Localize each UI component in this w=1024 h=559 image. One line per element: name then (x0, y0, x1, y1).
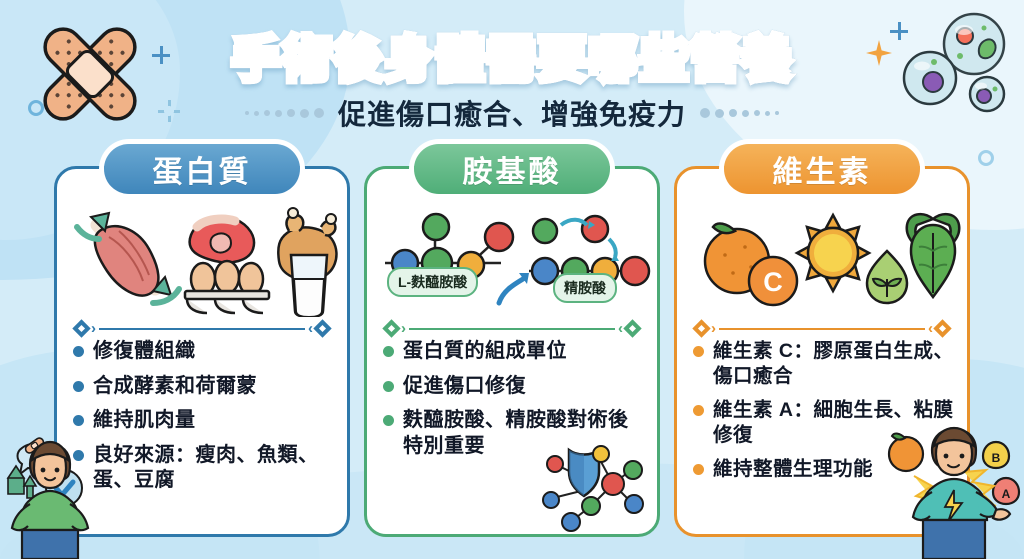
card-protein-heading: 蛋白質 (104, 144, 300, 194)
bullet-text: 合成酵素和荷爾蒙 (93, 374, 257, 400)
bullet-text: 維持整體生理功能 (713, 457, 873, 482)
card-protein[interactable]: 蛋白質 (54, 166, 350, 537)
bullet-text: 促進傷口修復 (403, 374, 526, 400)
card-vitamins-artwork: C (677, 205, 967, 317)
bullet-text: 蛋白質的組成單位 (403, 339, 567, 365)
card-vitamins-heading: 維生素 (724, 144, 920, 194)
card-protein-artwork (57, 205, 347, 317)
bullet-text: 維持肌肉量 (93, 408, 196, 434)
cards-container: 蛋白質 (0, 166, 1024, 546)
subtitle-row: 促進傷口癒合、增強免疫力 (0, 93, 1024, 133)
circle-outline-icon (978, 150, 994, 166)
label-arginine: 精胺酸 (553, 273, 617, 303)
page-subtitle: 促進傷口癒合、增強免疫力 (338, 93, 686, 133)
bullet-dot-icon (73, 415, 84, 426)
bullet-text: 維生素 A：細胞生長、粘膜修復 (713, 398, 957, 448)
bullet-text: 修復體組織 (93, 339, 196, 365)
bullet-dot-icon (693, 464, 704, 475)
bullet-item: 蛋白質的組成單位 (383, 339, 647, 365)
card-amino-acids-heading: 胺基酸 (414, 144, 610, 194)
card-vitamins-divider: › ‹ (695, 321, 949, 336)
bullet-dot-icon (73, 346, 84, 357)
card-amino-acids-artwork (367, 205, 657, 317)
card-protein-bullets: 修復體組織 合成酵素和荷爾蒙 維持肌肉量 良好來源：瘦肉、魚類、蛋、豆腐 (73, 339, 337, 503)
card-amino-acids-divider: › ‹ (385, 321, 639, 336)
card-protein-divider: › ‹ (75, 321, 329, 336)
bullet-dot-icon (383, 415, 394, 426)
bullet-dot-icon (383, 346, 394, 357)
bullet-item: 維生素 C：膠原蛋白生成、傷口癒合 (693, 339, 957, 389)
infographic-canvas: 手術後身體需要哪些營養 促進傷口癒合、增強免疫力 蛋白質 (0, 0, 1024, 559)
bullet-item: 維生素 A：細胞生長、粘膜修復 (693, 398, 957, 448)
bullet-dot-icon (73, 381, 84, 392)
bullet-item: 修復體組織 (73, 339, 337, 365)
dots-left-decoration (245, 108, 324, 118)
shield-molecule-icon (539, 436, 651, 532)
bullet-item: 維持肌肉量 (73, 408, 337, 434)
label-glutamine: L-麩醯胺酸 (387, 267, 478, 297)
bullet-dot-icon (693, 346, 704, 357)
bullet-dot-icon (383, 381, 394, 392)
card-vitamins-bullets: 維生素 C：膠原蛋白生成、傷口癒合 維生素 A：細胞生長、粘膜修復 維持整體生理… (693, 339, 957, 491)
bullet-item: 良好來源：瘦肉、魚類、蛋、豆腐 (73, 443, 337, 494)
bullet-dot-icon (73, 450, 84, 461)
page-title: 手術後身體需要哪些營養 (0, 20, 1024, 91)
bullet-text: 維生素 C：膠原蛋白生成、傷口癒合 (713, 339, 957, 389)
bullet-dot-icon (693, 405, 704, 416)
bullet-item: 促進傷口修復 (383, 374, 647, 400)
bullet-item: 合成酵素和荷爾蒙 (73, 374, 337, 400)
card-vitamins[interactable]: 維生素 C (674, 166, 970, 537)
bullet-item: 維持整體生理功能 (693, 457, 957, 482)
card-amino-acids[interactable]: 胺基酸 (364, 166, 660, 537)
dots-right-decoration (700, 108, 779, 118)
svg-text:C: C (763, 267, 783, 297)
bullet-text: 良好來源：瘦肉、魚類、蛋、豆腐 (93, 443, 337, 494)
